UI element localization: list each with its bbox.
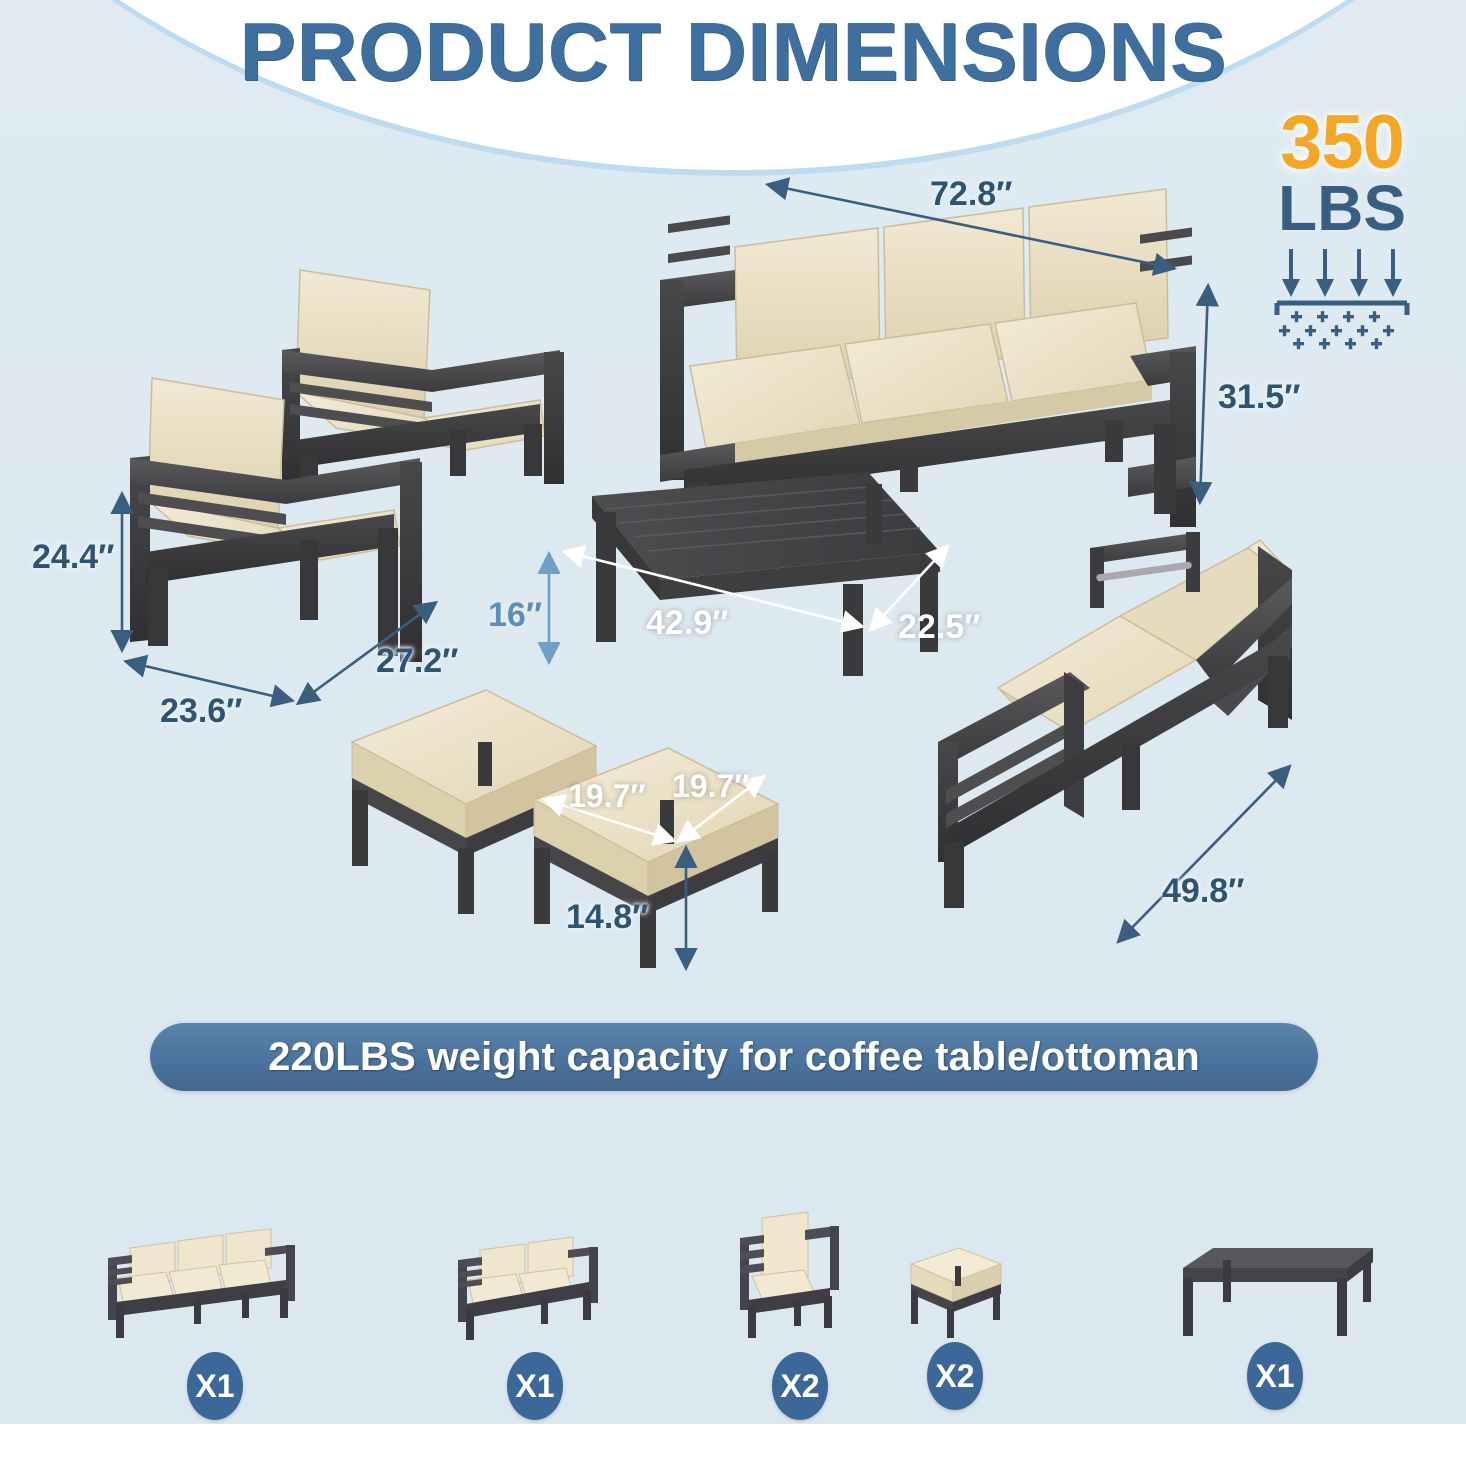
dimension-sofa-width: 72.8″ <box>930 175 1012 214</box>
sofa-thumb-icon <box>90 1202 340 1352</box>
legend-qty-loveseat: X1 <box>507 1352 563 1420</box>
loveseat-illustration <box>938 532 1292 908</box>
banner-text: 220LBS weight capacity for coffee table/… <box>268 1035 1200 1080</box>
ottoman-thumb-icon <box>885 1230 1025 1342</box>
dimension-sofa-height: 31.5″ <box>1218 378 1300 417</box>
dimension-table-height: 16″ <box>488 596 542 635</box>
dimension-chair-width: 23.6″ <box>160 692 242 731</box>
legend-qty-ottoman: X2 <box>927 1342 983 1410</box>
weight-capacity-banner: 220LBS weight capacity for coffee table/… <box>150 1021 1318 1091</box>
dimension-table-width: 22.5″ <box>898 608 980 647</box>
dimension-ottoman-height: 14.8″ <box>566 898 648 937</box>
coffee-table-thumb-icon <box>1165 1230 1385 1342</box>
furniture-scene <box>0 0 1466 1010</box>
dimension-table-length: 42.9″ <box>646 604 728 643</box>
legend-item-coffee-table: X1 <box>1160 1230 1390 1410</box>
dimension-ottoman-width: 19.7″ <box>568 778 646 815</box>
legend-qty-armchair: X2 <box>772 1352 828 1420</box>
legend-qty-sofa: X1 <box>187 1352 243 1420</box>
set-contents-legend: X1 X1 <box>0 1150 1466 1466</box>
dimension-chair-height: 24.4″ <box>32 538 114 577</box>
infographic-root: PRODUCT DIMENSIONS 350 LBS <box>0 0 1466 1466</box>
dimension-loveseat-width: 49.8″ <box>1162 872 1244 911</box>
dimension-ottoman-depth: 19.7″ <box>672 768 750 805</box>
legend-item-armchair: X2 <box>712 1192 888 1420</box>
armchair-thumb-icon <box>720 1192 880 1352</box>
legend-qty-coffee-table: X1 <box>1247 1342 1303 1410</box>
legend-item-ottoman: X2 <box>880 1230 1030 1410</box>
legend-item-loveseat: X1 <box>425 1208 645 1420</box>
legend-item-sofa: X1 <box>75 1202 355 1420</box>
sofa-illustration <box>660 189 1196 527</box>
armchair-back-illustration <box>282 270 564 495</box>
dimension-chair-depth: 27.2″ <box>376 642 458 681</box>
loveseat-thumb-icon <box>435 1208 635 1352</box>
coffee-table-illustration <box>592 472 940 676</box>
